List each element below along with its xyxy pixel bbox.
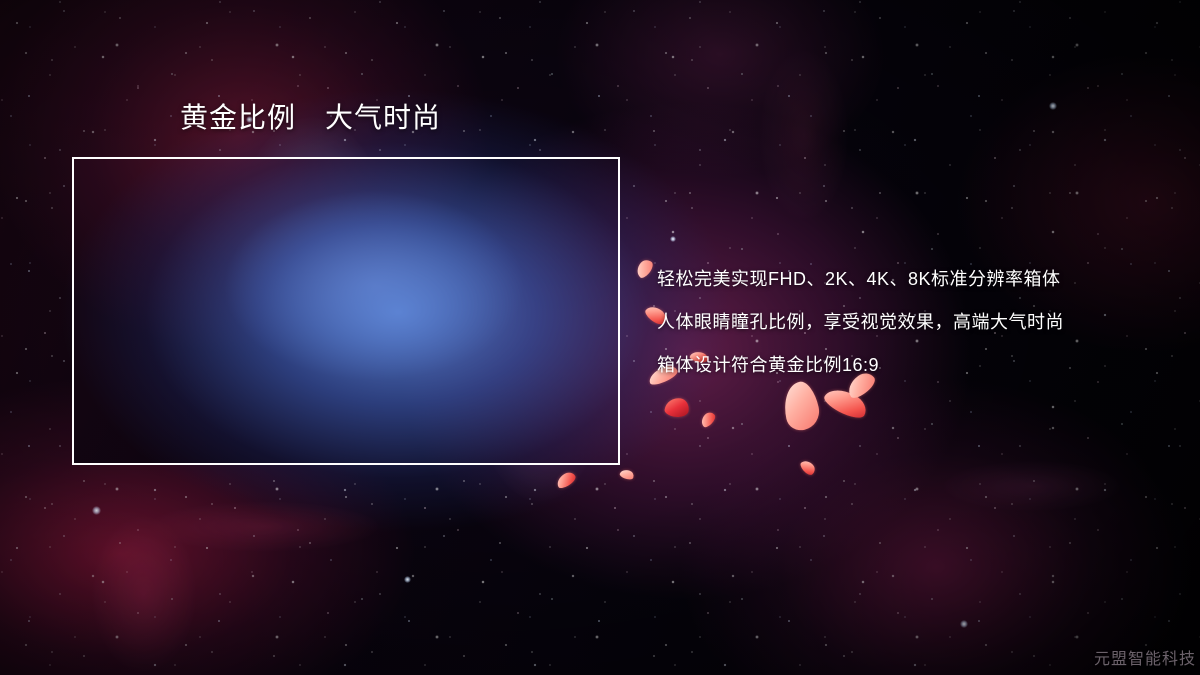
- feature-line-3: 箱体设计符合黄金比例16:9: [657, 344, 1162, 387]
- bright-star: [960, 620, 968, 628]
- product-preview-image: [74, 159, 618, 463]
- bright-star: [670, 236, 676, 242]
- feature-line-2: 人体眼睛瞳孔比例，享受视觉效果，高端大气时尚: [657, 301, 1162, 344]
- company-watermark: 元盟智能科技: [1094, 650, 1196, 670]
- product-preview-frame[interactable]: [72, 157, 620, 465]
- bright-star: [92, 506, 101, 515]
- presentation-slide: 黄金比例 大气时尚 轻松完美实现FHD、2K、4K、8K标准分辨率箱体 人体眼睛…: [0, 0, 1200, 675]
- flower-petal: [779, 379, 822, 433]
- flower-petal: [633, 257, 655, 280]
- bright-star: [1049, 102, 1057, 110]
- frame-image-content: [74, 159, 618, 463]
- page-title: 黄金比例 大气时尚: [180, 101, 441, 135]
- flower-petal: [821, 383, 870, 423]
- flower-petal: [799, 458, 818, 477]
- flower-petal: [554, 470, 577, 490]
- feature-description: 轻松完美实现FHD、2K、4K、8K标准分辨率箱体 人体眼睛瞳孔比例，享受视觉效…: [657, 258, 1162, 387]
- feature-line-1: 轻松完美实现FHD、2K、4K、8K标准分辨率箱体: [657, 258, 1162, 301]
- flower-petal: [698, 410, 717, 429]
- flower-petal: [664, 396, 690, 418]
- bright-star: [404, 576, 411, 583]
- flower-petal: [619, 468, 635, 481]
